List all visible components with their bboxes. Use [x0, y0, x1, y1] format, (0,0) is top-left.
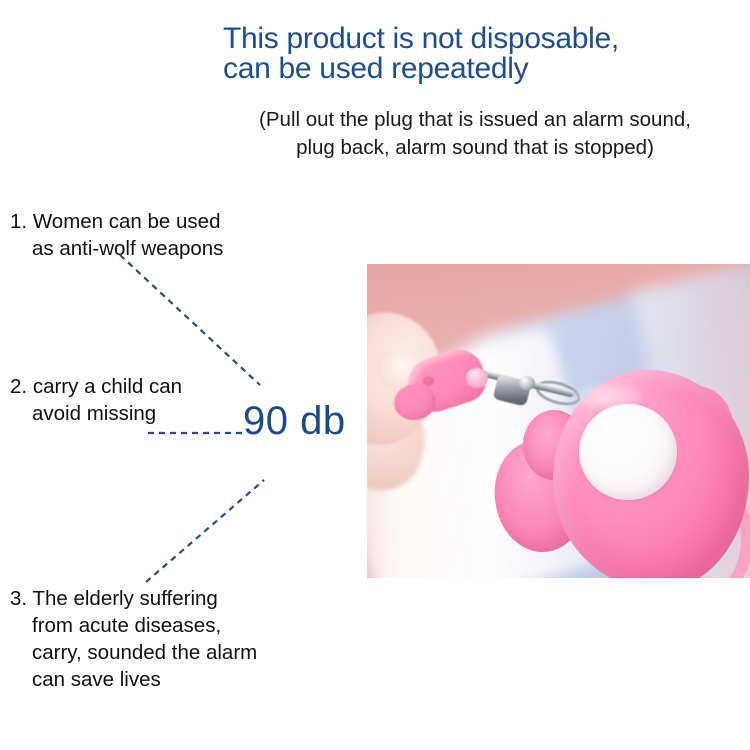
feature-2-line-2: avoid missing: [10, 400, 182, 427]
product-photo: [367, 264, 750, 578]
subtitle-line-2: plug back, alarm sound that is stopped): [200, 134, 750, 162]
infographic-canvas: This product is not disposable, can be u…: [0, 0, 750, 750]
feature-2-text-1: carry a child can: [33, 375, 182, 398]
feature-2-number: 2.: [10, 375, 27, 398]
feature-1-line-1: 1. Women can be used: [10, 208, 223, 235]
feature-item-2: 2. carry a child can avoid missing: [10, 373, 182, 427]
feature-3-number: 3.: [10, 587, 27, 610]
carabiner-bead: [519, 376, 535, 390]
headline-line-2: can be used repeatedly: [223, 54, 750, 84]
feature-1-text-1: Women can be used: [33, 210, 221, 233]
photo-stage: [367, 264, 750, 578]
alarm-highlight: [573, 384, 643, 410]
feature-3-text-1: The elderly suffering: [32, 587, 217, 610]
feature-item-3: 3. The elderly suffering from acute dise…: [10, 585, 257, 693]
alarm-pull-plug-dot: [423, 376, 434, 386]
alarm-button: [579, 404, 677, 500]
feature-3-line-3: carry, sounded the alarm: [10, 639, 257, 666]
connector-line-2: [148, 430, 248, 436]
feature-2-line-1: 2. carry a child can: [10, 373, 182, 400]
feature-3-line-4: can save lives: [10, 666, 257, 693]
alarm-pull-plug-tip: [466, 368, 488, 388]
connector-line-1: [120, 255, 280, 390]
feature-1-line-2: as anti-wolf weapons: [10, 235, 223, 262]
decibel-callout: 90 db: [243, 399, 346, 443]
feature-3-line-2: from acute diseases,: [10, 612, 257, 639]
subtitle: (Pull out the plug that is issued an ala…: [200, 106, 750, 162]
connector-line-3: [140, 478, 270, 586]
feature-item-1: 1. Women can be used as anti-wolf weapon…: [10, 208, 223, 262]
headline-line-1: This product is not disposable,: [223, 22, 619, 55]
subtitle-line-1: (Pull out the plug that is issued an ala…: [200, 106, 750, 134]
feature-3-line-1: 3. The elderly suffering: [10, 585, 257, 612]
page-title: This product is not disposable, can be u…: [223, 24, 750, 84]
feature-1-number: 1.: [10, 210, 27, 233]
